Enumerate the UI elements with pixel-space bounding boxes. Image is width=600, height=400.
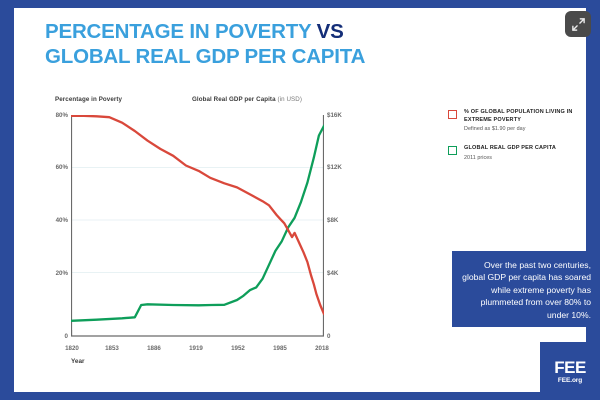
logo-mark: FEE [554,359,586,376]
x-tick-2018: 2018 [305,345,339,352]
expand-arrows-icon [571,17,586,32]
gdp-line [71,126,324,321]
legend-swatch-green-icon [448,146,457,155]
fee-logo[interactable]: FEE FEE.org [540,342,600,400]
y-axis-right-label-main: Global Real GDP per Capita [192,96,276,103]
legend-swatch-red-icon [448,110,457,119]
expand-button[interactable] [565,11,591,37]
content-card: PERCENTAGE IN POVERTY VS GLOBAL REAL GDP… [14,8,586,392]
x-tick-1820: 1820 [55,345,89,352]
y-tick-right-12k: $12K [327,164,342,171]
title-line1-primary: PERCENTAGE IN POVERTY [45,20,317,43]
legend-item-gdp: GLOBAL REAL GDP PER CAPITA 2011 prices [448,145,598,161]
page-title: PERCENTAGE IN POVERTY VS GLOBAL REAL GDP… [45,19,465,69]
y-axis-right-label: Global Real GDP per Capita (in USD) [192,96,302,103]
chart-legend: % OF GLOBAL POPULATION LIVING IN EXTREME… [448,109,598,174]
legend-title-poverty: % OF GLOBAL POPULATION LIVING IN EXTREME… [464,109,598,124]
x-axis-label: Year [71,358,85,365]
x-tick-1853: 1853 [95,345,129,352]
legend-item-poverty: % OF GLOBAL POPULATION LIVING IN EXTREME… [448,109,598,132]
y-axis-right-label-unit: (in USD) [277,96,302,103]
chart-svg [71,115,324,337]
x-tick-1985: 1985 [263,345,297,352]
chart: Percentage in Poverty Global Real GDP pe… [44,96,344,356]
gridlines [71,168,324,273]
title-line2: GLOBAL REAL GDP PER CAPITA [45,45,365,68]
y-tick-left-60: 60% [44,164,68,171]
legend-subtitle-poverty: Defined as $1.90 per day [464,126,598,132]
y-tick-right-16k: $16K [327,112,342,119]
poverty-line [71,116,324,314]
y-tick-left-80: 80% [44,112,68,119]
x-tick-1919: 1919 [179,345,213,352]
legend-title-gdp: GLOBAL REAL GDP PER CAPITA [464,145,556,153]
y-tick-left-40: 40% [44,217,68,224]
y-axis-left-label: Percentage in Poverty [55,96,122,103]
x-tick-1886: 1886 [137,345,171,352]
y-tick-right-4k: $4K [327,270,338,277]
x-axis-end-caps [72,330,324,336]
infographic-root: PERCENTAGE IN POVERTY VS GLOBAL REAL GDP… [0,0,600,400]
x-tick-1952: 1952 [221,345,255,352]
y-tick-left-20: 20% [44,270,68,277]
y-tick-left-0: 0 [44,333,68,340]
title-vs: VS [317,20,344,43]
legend-subtitle-gdp: 2011 prices [464,155,556,161]
y-tick-right-0: 0 [327,333,330,340]
logo-url: FEE.org [558,377,582,384]
callout-box: Over the past two centuries, global GDP … [452,251,600,327]
plot-area [71,115,324,337]
y-tick-right-8k: $8K [327,217,338,224]
